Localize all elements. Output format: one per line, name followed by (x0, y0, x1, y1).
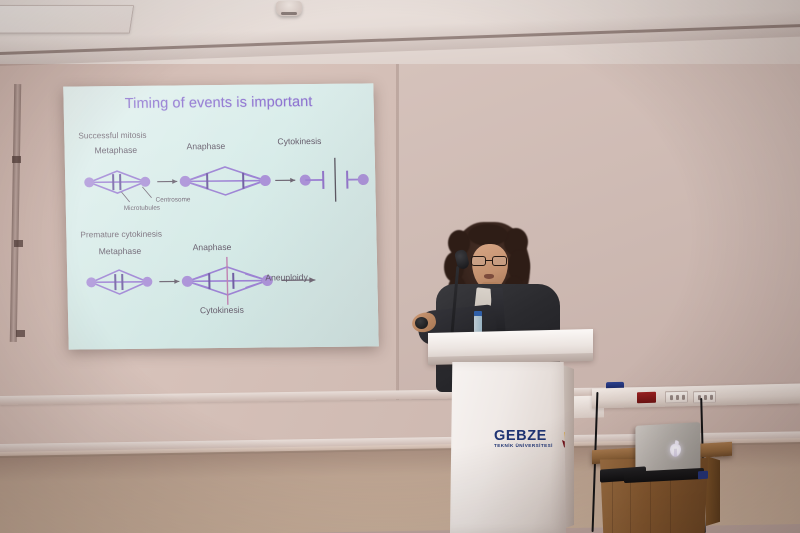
socket-hole (676, 395, 679, 400)
apple-logo-icon (670, 443, 681, 456)
vga-dongle (698, 471, 708, 480)
rail-bracket (12, 156, 21, 163)
socket-hole (710, 395, 713, 400)
presentation-slide: Timing of events is important Successful… (63, 83, 379, 349)
logo-wordmark: GEBZE (494, 428, 547, 444)
mitosis-diagram-row-2 (75, 255, 372, 306)
stage-label-metaphase-1: Metaphase (94, 145, 137, 155)
stage-label-anaphase-2: Anaphase (193, 242, 232, 252)
mitosis-diagram-row-1 (73, 155, 370, 204)
stage-label-cytokinesis-2: Cytokinesis (200, 305, 244, 315)
outcome-label-aneuploidy: Aneuploidy (265, 272, 308, 282)
socket-hole (670, 395, 673, 400)
slide-title: Timing of events is important (63, 93, 373, 112)
section-heading-successful-mitosis: Successful mitosis (78, 130, 146, 141)
red-outlet[interactable] (637, 392, 656, 403)
smoke-detector-icon (276, 1, 302, 16)
light-panel-icon (0, 5, 134, 33)
hair-curl (468, 224, 508, 246)
podium: GEBZE TEKNİK ÜNİVERSİTESİ (422, 331, 594, 533)
white-socket[interactable] (665, 391, 688, 404)
bottle-cap (474, 311, 482, 316)
stage-label-cytokinesis-1: Cytokinesis (277, 136, 321, 146)
white-socket[interactable] (693, 391, 716, 404)
water-bottle (474, 315, 482, 333)
laptop[interactable] (624, 424, 702, 482)
logo-subtitle: TEKNİK ÜNİVERSİTESİ (494, 443, 553, 448)
glasses-lens-left (471, 256, 486, 266)
mouth (484, 274, 494, 279)
socket-hole (682, 395, 685, 400)
podium-front: GEBZE TEKNİK ÜNİVERSİTESİ (450, 362, 566, 533)
glasses-icon (470, 256, 510, 267)
table-side (706, 456, 720, 526)
glasses-lens-right (492, 256, 507, 266)
stage-label-metaphase-2: Metaphase (99, 246, 142, 256)
lecture-hall-photo: Timing of events is important Successful… (0, 0, 800, 533)
presenter-clicker[interactable] (415, 317, 428, 329)
annotation-centrosome: Centrosome (156, 196, 191, 203)
annotation-microtubules: Microtubules (124, 205, 160, 212)
stage-label-anaphase-1: Anaphase (186, 141, 225, 151)
rail-bracket (16, 330, 25, 337)
section-heading-premature-cytokinesis: Premature cytokinesis (80, 229, 162, 240)
projection-screen: Timing of events is important Successful… (63, 83, 379, 349)
rail-bracket (14, 240, 23, 247)
socket-hole (704, 395, 707, 400)
